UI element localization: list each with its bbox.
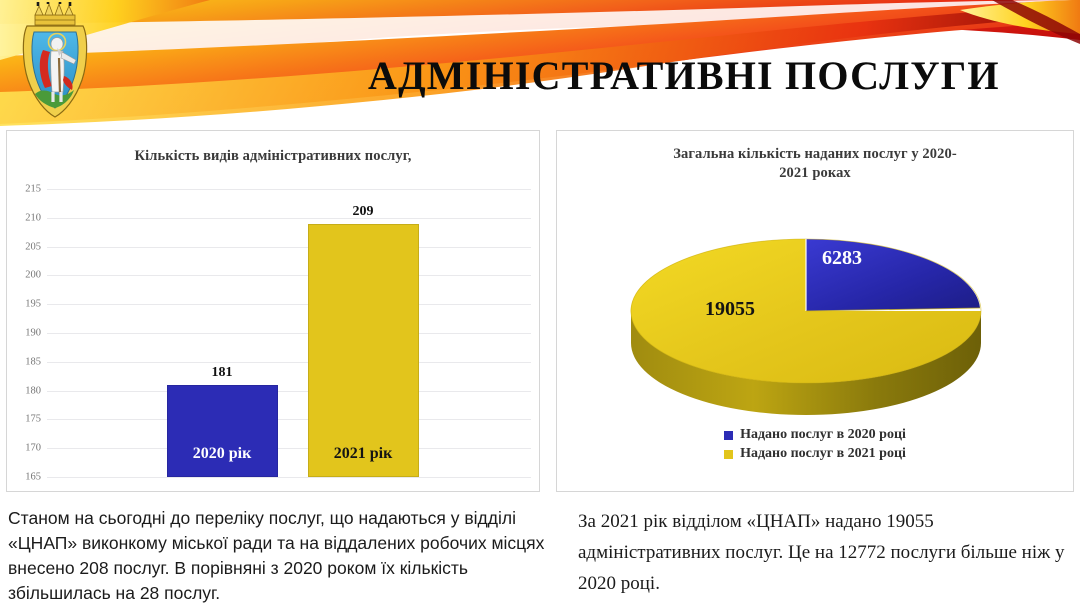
- slide-root: АДМІНІСТРАТИВНІ ПОСЛУГИ Кількість видів …: [0, 0, 1080, 608]
- pie-chart-graphic-area: 6283 19055: [557, 193, 1075, 423]
- bar-value-label: 181: [212, 365, 233, 381]
- bar-chart-title: Кількість видів адміністративних послуг,: [7, 147, 539, 166]
- pie-slice-label-2021: 19055: [705, 298, 755, 321]
- bar-2020-рік[interactable]: 2020 рік181: [167, 385, 278, 477]
- page-title: АДМІНІСТРАТИВНІ ПОСЛУГИ: [368, 52, 1068, 99]
- gridline: 215: [47, 189, 531, 190]
- footer-text-left: Станом на сьогодні до переліку послуг, щ…: [8, 506, 556, 606]
- legend-swatch-2020: [724, 431, 733, 440]
- bar-fill: [308, 224, 419, 477]
- gridline: 180: [47, 391, 531, 392]
- pie-chart-title-line2: 2021 роках: [617, 164, 1013, 183]
- gridline: 185: [47, 362, 531, 363]
- pie-chart-svg: [601, 193, 1031, 423]
- gridline: 200: [47, 275, 531, 276]
- legend-item-2020[interactable]: Надано послуг в 2020 році: [724, 427, 906, 443]
- y-axis-tick-label: 195: [25, 299, 41, 310]
- pie-chart-title-line1: Загальна кількість наданих послуг у 2020…: [617, 145, 1013, 164]
- bar-category-label: 2021 рік: [334, 445, 393, 463]
- legend-swatch-2021: [724, 450, 733, 459]
- bar-chart-panel: Кількість видів адміністративних послуг,…: [6, 130, 540, 492]
- pie-chart-title: Загальна кількість наданих послуг у 2020…: [557, 145, 1073, 183]
- gridline: 205: [47, 247, 531, 248]
- pie-slice-label-2020: 6283: [822, 247, 862, 270]
- y-axis-tick-label: 200: [25, 270, 41, 281]
- gridline: 190: [47, 333, 531, 334]
- gridline: 210: [47, 218, 531, 219]
- y-axis-tick-label: 175: [25, 414, 41, 425]
- coat-of-arms: [16, 2, 94, 120]
- pie-chart-panel: Загальна кількість наданих послуг у 2020…: [556, 130, 1074, 492]
- legend-label-2020: Надано послуг в 2020 році: [740, 427, 906, 443]
- y-axis-tick-label: 185: [25, 356, 41, 367]
- legend-item-2021[interactable]: Надано послуг в 2021 році: [724, 446, 906, 462]
- y-axis-tick-label: 180: [25, 385, 41, 396]
- gridline: 170: [47, 448, 531, 449]
- gridline: 165: [47, 477, 531, 478]
- legend-label-2021: Надано послуг в 2021 році: [740, 446, 906, 462]
- y-axis-tick-label: 215: [25, 184, 41, 195]
- bar-fill: [167, 385, 278, 477]
- header-banner: АДМІНІСТРАТИВНІ ПОСЛУГИ: [0, 0, 1080, 126]
- y-axis-tick-label: 210: [25, 212, 41, 223]
- footer-text-right: За 2021 рік відділом «ЦНАП» надано 19055…: [578, 506, 1068, 599]
- bar-category-label: 2020 рік: [193, 445, 252, 463]
- y-axis-tick-label: 205: [25, 241, 41, 252]
- y-axis-tick-label: 170: [25, 443, 41, 454]
- bar-chart-plot-area: 165170175180185190195200205210215 2020 р…: [47, 189, 531, 477]
- pie-chart-legend: Надано послуг в 2020 році Надано послуг …: [557, 427, 1073, 462]
- y-axis-tick-label: 165: [25, 472, 41, 483]
- gridline: 195: [47, 304, 531, 305]
- y-axis-tick-label: 190: [25, 328, 41, 339]
- bar-2021-рік[interactable]: 2021 рік209: [308, 224, 419, 477]
- gridline: 175: [47, 419, 531, 420]
- bar-value-label: 209: [353, 204, 374, 220]
